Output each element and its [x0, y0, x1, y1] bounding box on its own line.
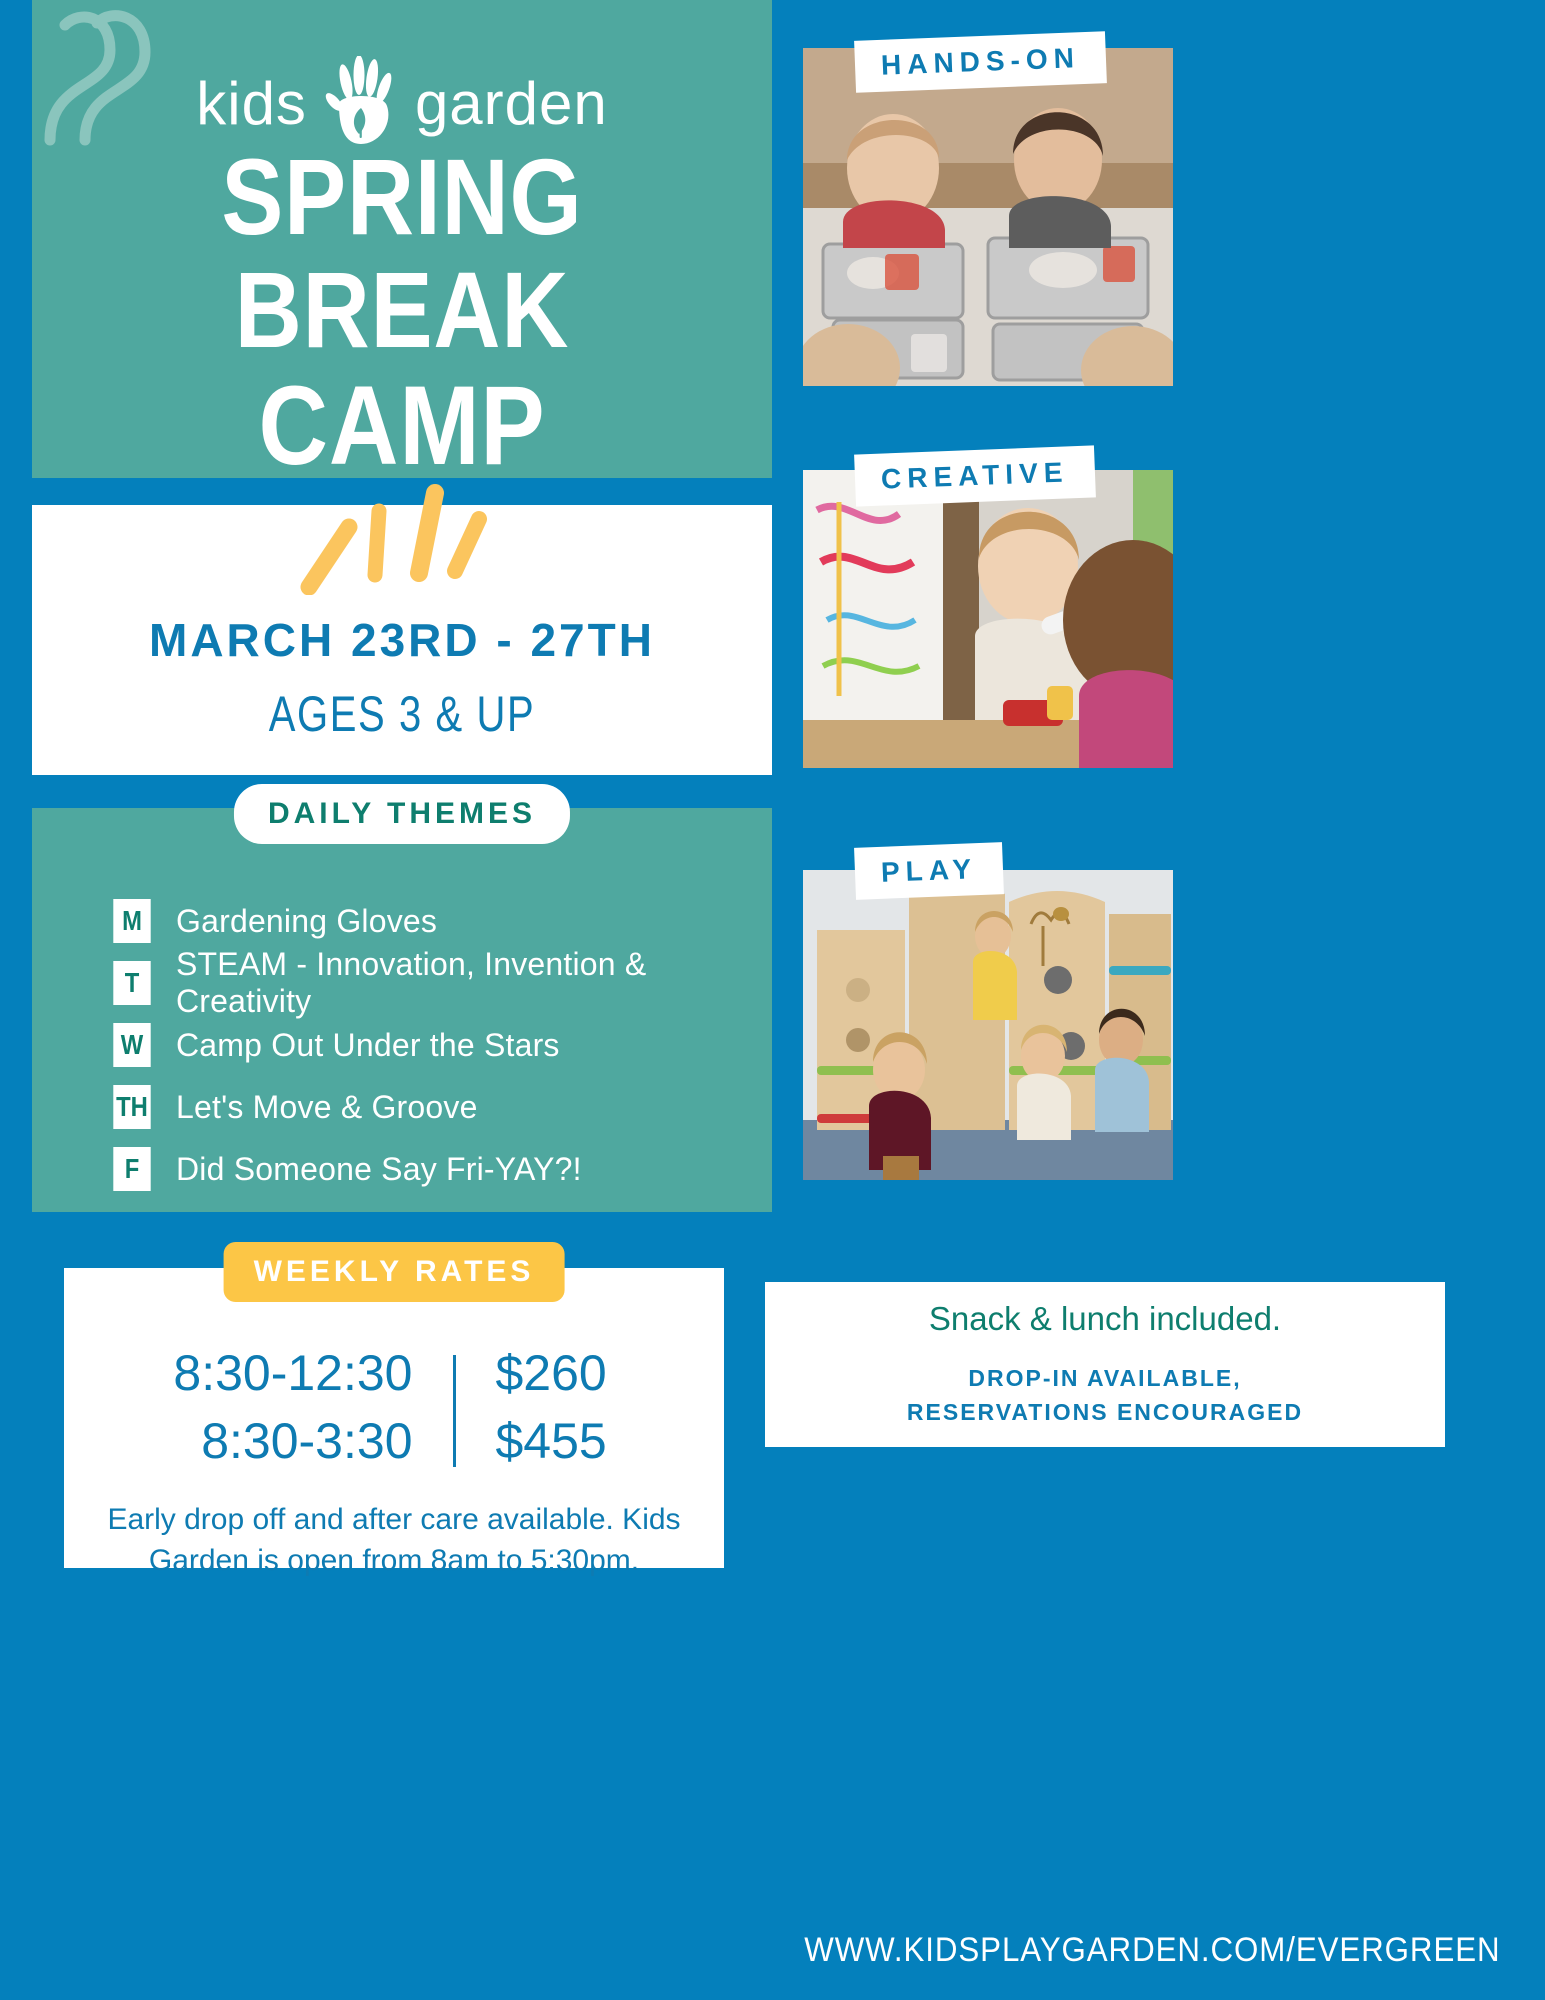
theme-label: Camp Out Under the Stars — [176, 1027, 560, 1064]
list-item: F Did Someone Say Fri-YAY?! — [110, 1138, 752, 1200]
footer-website-url[interactable]: WWW.KIDSPLAYGARDEN.COM/EVERGREEN — [760, 1900, 1545, 2000]
photo-play — [803, 870, 1173, 1180]
list-item: T STEAM - Innovation, Invention & Creati… — [110, 952, 752, 1014]
snack-lunch-text: Snack & lunch included. — [929, 1300, 1281, 1338]
hero-section: kids garden — [32, 0, 772, 478]
rates-table: 8:30-12:30 8:30-3:30 $260 $455 — [64, 1340, 724, 1475]
info-box: Snack & lunch included. DROP-IN AVAILABL… — [765, 1282, 1445, 1447]
rates-note: Early drop off and after care available.… — [104, 1500, 684, 1581]
theme-label: Gardening Gloves — [176, 903, 437, 940]
theme-label: STEAM - Innovation, Invention & Creativi… — [176, 946, 752, 1020]
rates-prices-column: $260 $455 — [496, 1340, 636, 1475]
logo-text-garden: garden — [415, 74, 608, 134]
hero-title-line1: SPRING BREAK — [221, 136, 582, 370]
date-box: MARCH 23RD - 27TH AGES 3 & UP — [32, 505, 772, 775]
daily-themes-heading: DAILY THEMES — [234, 784, 570, 844]
theme-day-badge: M — [113, 899, 150, 943]
logo-text-kids: kids — [196, 74, 307, 134]
weekly-rates-section: WEEKLY RATES 8:30-12:30 8:30-3:30 $260 $… — [64, 1268, 724, 1568]
footer-url-text: WWW.KIDSPLAYGARDEN.COM/EVERGREEN — [804, 1931, 1500, 1970]
photo-tag-hands-on: HANDS-ON — [854, 31, 1107, 93]
list-item: W Camp Out Under the Stars — [110, 1014, 752, 1076]
ages-line: AGES 3 & UP — [106, 685, 698, 743]
dropin-note: DROP-IN AVAILABLE, RESERVATIONS ENCOURAG… — [907, 1362, 1303, 1429]
dropin-line1: DROP-IN AVAILABLE, — [907, 1362, 1303, 1395]
rate-price: $260 — [496, 1340, 636, 1408]
rates-times-column: 8:30-12:30 8:30-3:30 — [153, 1340, 413, 1475]
page-title: SPRING BREAK CAMP — [84, 140, 720, 478]
rate-time: 8:30-12:30 — [153, 1340, 413, 1408]
theme-label: Let's Move & Groove — [176, 1089, 478, 1126]
theme-day-badge: W — [113, 1023, 150, 1067]
hero-title-line2: CAMP — [84, 367, 720, 478]
theme-day-badge: TH — [113, 1085, 150, 1129]
theme-list: M Gardening Gloves T STEAM - Innovation,… — [110, 890, 752, 1200]
flyer-page: kids garden — [0, 0, 1545, 2000]
weekly-rates-heading: WEEKLY RATES — [224, 1242, 565, 1302]
rate-price: $455 — [496, 1408, 636, 1476]
rate-time: 8:30-3:30 — [153, 1408, 413, 1476]
theme-label: Did Someone Say Fri-YAY?! — [176, 1151, 582, 1188]
list-item: M Gardening Gloves — [110, 890, 752, 952]
burst-decoration — [287, 475, 517, 595]
list-item: TH Let's Move & Groove — [110, 1076, 752, 1138]
date-range: MARCH 23RD - 27TH — [32, 613, 772, 667]
theme-day-badge: F — [113, 1147, 150, 1191]
photo-creative — [803, 470, 1173, 768]
theme-day-badge: T — [113, 961, 150, 1005]
photo-tag-creative: CREATIVE — [854, 445, 1095, 506]
photo-tag-play: PLAY — [854, 842, 1004, 900]
dropin-line2: RESERVATIONS ENCOURAGED — [907, 1396, 1303, 1429]
photo-hands-on — [803, 48, 1173, 386]
daily-themes-section: DAILY THEMES M Gardening Gloves T STEAM … — [32, 808, 772, 1212]
rates-divider — [453, 1355, 456, 1467]
